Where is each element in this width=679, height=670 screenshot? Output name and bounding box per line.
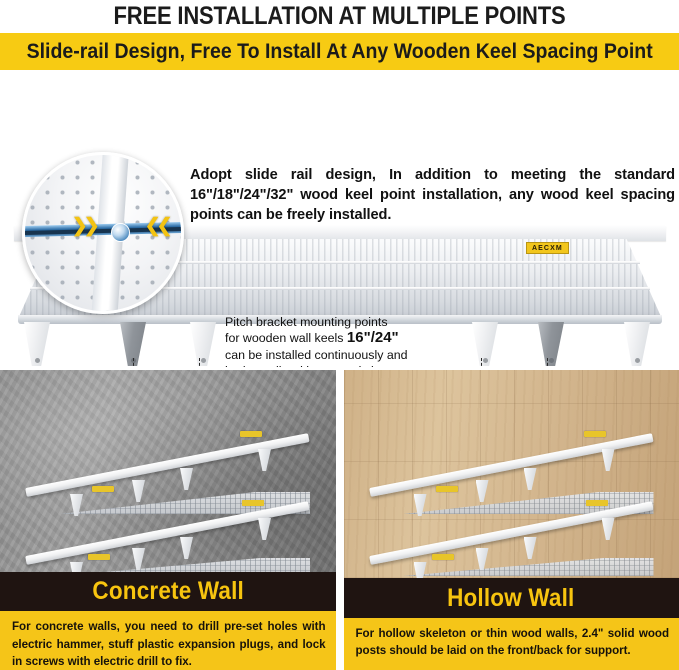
brand-tag <box>242 500 264 506</box>
pitch-annotation-line4: horizontally without restriction. <box>225 363 475 367</box>
panel-title-concrete: Concrete Wall <box>0 572 336 611</box>
dimension-drop-line <box>133 358 134 367</box>
pitch-annotation: Pitch bracket mounting points for wooden… <box>225 314 475 367</box>
panel-hollow: Hollow Wall For hollow skeleton or thin … <box>344 370 679 670</box>
shelf-bracket <box>602 449 615 471</box>
shelf-bracket <box>190 322 216 366</box>
shelf-bracket <box>180 537 193 559</box>
shelf-mesh <box>404 558 654 576</box>
panel-concrete: Concrete Wall For concrete walls, you ne… <box>0 370 336 670</box>
arrow-right-icon: ❯❯ <box>72 216 96 235</box>
shelf-bracket <box>538 322 564 366</box>
dimension-drop-line <box>199 358 200 367</box>
panel-body-hollow: For hollow skeleton or thin wood walls, … <box>344 618 679 670</box>
dimension-drop-line <box>547 358 548 367</box>
panel-title-hollow: Hollow Wall <box>344 578 679 618</box>
dimension-drop-line <box>481 358 482 367</box>
shelf-bracket <box>132 480 145 502</box>
shelf-bracket <box>258 518 271 540</box>
pitch-annotation-measure: 16"/24" <box>347 329 399 346</box>
shelf-bracket <box>602 518 615 540</box>
pitch-annotation-line3: can be installed continuously and <box>225 347 475 363</box>
arrow-left-icon: ❮❮ <box>145 216 169 235</box>
product-diagram-section: Adopt slide rail design, In addition to … <box>0 70 679 367</box>
pitch-annotation-line1: Pitch bracket mounting points <box>225 314 475 330</box>
brand-tag <box>436 486 458 492</box>
shelf-bracket <box>476 480 489 502</box>
page-title: FREE INSTALLATION AT MULTIPLE POINTS <box>41 0 639 33</box>
hollow-wall-photo <box>344 370 679 578</box>
brand-tag <box>432 554 454 560</box>
shelf-mesh <box>60 558 310 572</box>
concrete-wall-photo <box>0 370 336 572</box>
intro-paragraph: Adopt slide rail design, In addition to … <box>190 165 675 225</box>
panel-title-hollow-text: Hollow Wall <box>448 584 575 613</box>
wall-type-panels: Concrete Wall For concrete walls, you ne… <box>0 370 679 670</box>
subtitle-banner: Slide-rail Design, Free To Install At An… <box>0 33 679 70</box>
shelf-bracket <box>524 468 537 490</box>
brand-tag <box>88 554 110 560</box>
shelf-bracket <box>132 548 145 570</box>
subtitle-banner-text: Slide-rail Design, Free To Install At An… <box>26 40 652 64</box>
shelf-bracket <box>70 562 83 572</box>
shelf-bracket <box>180 468 193 490</box>
shelf-bracket <box>258 449 271 471</box>
brand-tag <box>586 500 608 506</box>
shelf-bracket <box>524 537 537 559</box>
shelf-bracket <box>24 322 50 366</box>
shelf-bracket <box>472 322 498 366</box>
brand-tag <box>240 431 262 437</box>
slide-rail-knob <box>111 223 130 242</box>
pitch-annotation-line2-prefix: for wooden wall keels <box>225 331 347 345</box>
panel-body-concrete: For concrete walls, you need to drill pr… <box>0 611 336 670</box>
magnifier-callout: ❯❯ ❮❮ <box>22 152 184 314</box>
brand-tag <box>92 486 114 492</box>
brand-tag <box>584 431 606 437</box>
page-title-text: FREE INSTALLATION AT MULTIPLE POINTS <box>114 2 566 31</box>
panel-title-concrete-text: Concrete Wall <box>92 577 244 606</box>
pitch-annotation-line2: for wooden wall keels 16"/24" <box>225 330 475 346</box>
shelf-bracket <box>476 548 489 570</box>
shelf-bracket <box>624 322 650 366</box>
brand-tag: AECXM <box>526 242 569 254</box>
